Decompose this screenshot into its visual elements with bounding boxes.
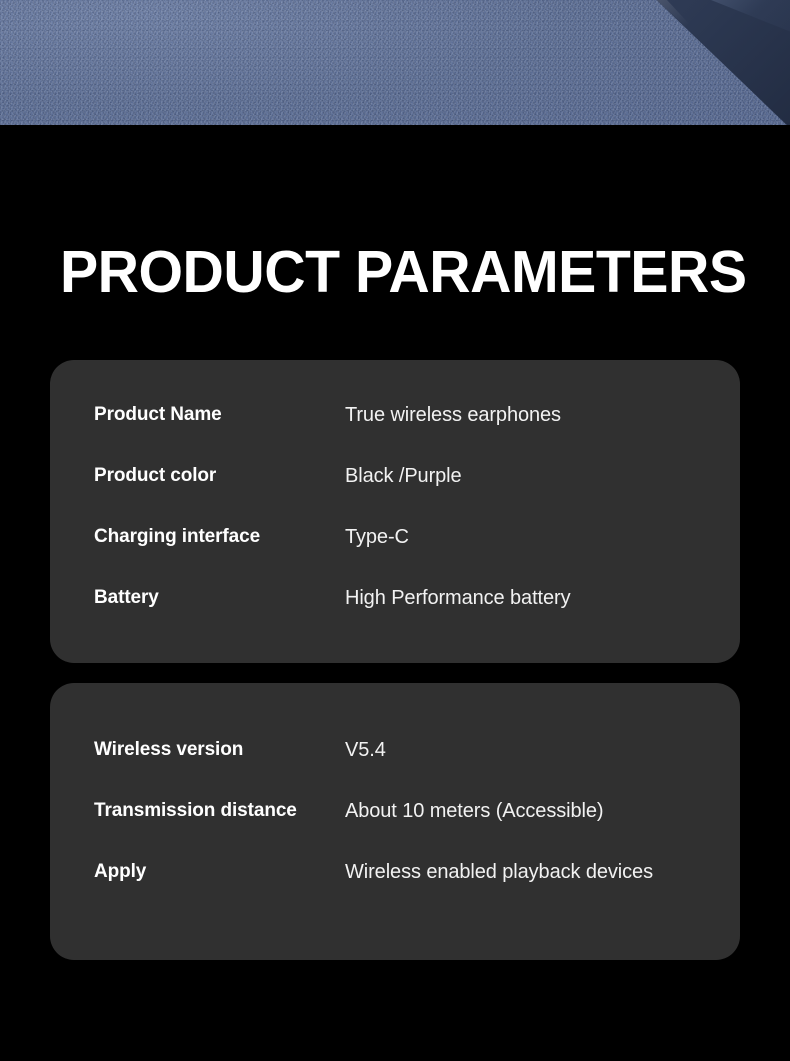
- spec-value: V5.4: [345, 739, 386, 761]
- spec-card-connectivity: Wireless version V5.4 Transmission dista…: [50, 683, 740, 960]
- spec-label: Charging interface: [94, 526, 345, 548]
- page-title: PRODUCT PARAMETERS: [60, 243, 747, 302]
- product-parameters-page: PRODUCT PARAMETERS Product Name True wir…: [0, 0, 790, 1061]
- spec-label: Product Name: [94, 404, 345, 426]
- spec-label: Transmission distance: [94, 800, 345, 822]
- spec-label: Wireless version: [94, 739, 345, 761]
- spec-label: Product color: [94, 465, 345, 487]
- spec-row-list: Wireless version V5.4 Transmission dista…: [50, 683, 740, 922]
- spec-row: Transmission distance About 10 meters (A…: [50, 800, 740, 861]
- spec-value: Wireless enabled playback devices: [345, 861, 653, 883]
- spec-value: Black /Purple: [345, 465, 462, 487]
- spec-row: Battery High Performance battery: [50, 587, 740, 648]
- spec-row-list: Product Name True wireless earphones Pro…: [50, 360, 740, 648]
- spec-row: Apply Wireless enabled playback devices: [50, 861, 740, 922]
- spec-row: Product Name True wireless earphones: [50, 404, 740, 465]
- spec-label: Battery: [94, 587, 345, 609]
- spec-value: High Performance battery: [345, 587, 570, 609]
- spec-row: Charging interface Type-C: [50, 526, 740, 587]
- spec-row: Product color Black /Purple: [50, 465, 740, 526]
- spec-card-general: Product Name True wireless earphones Pro…: [50, 360, 740, 663]
- spec-value: True wireless earphones: [345, 404, 561, 426]
- hero-product-image: [0, 0, 790, 125]
- hero-speckle-overlay: [0, 0, 790, 125]
- spec-value: About 10 meters (Accessible): [345, 800, 603, 822]
- spec-value: Type-C: [345, 526, 409, 548]
- spec-label: Apply: [94, 861, 345, 883]
- spec-row: Wireless version V5.4: [50, 739, 740, 800]
